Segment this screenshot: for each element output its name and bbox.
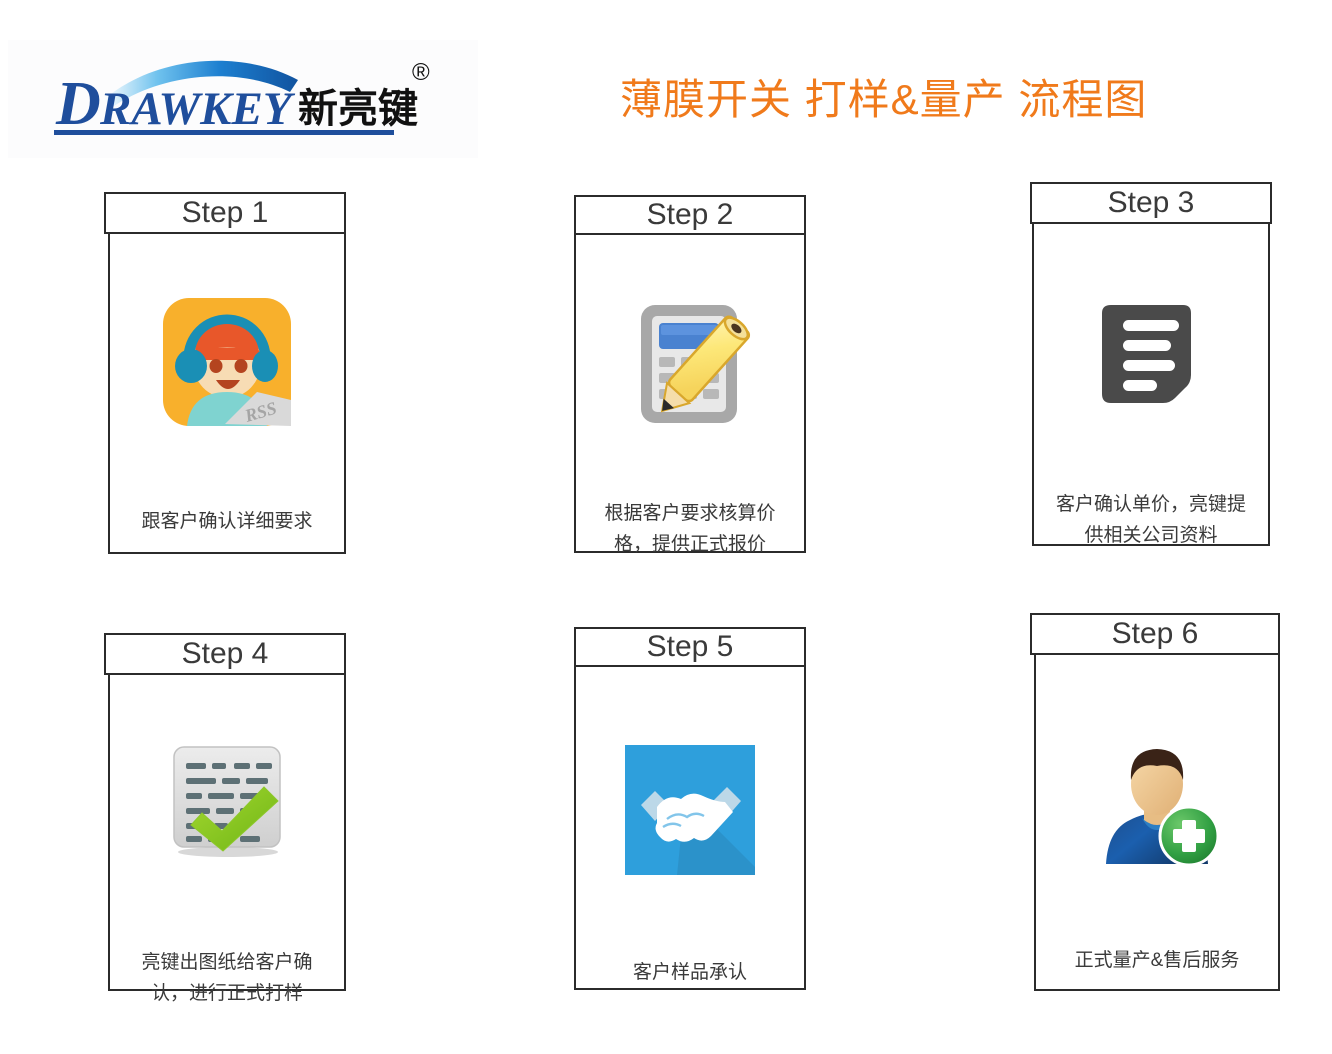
- svg-text:®: ®: [412, 59, 430, 86]
- step-4-header: Step 4: [104, 633, 346, 675]
- customer-support-agent-icon: RSS: [161, 296, 293, 433]
- svg-text:D: D: [55, 70, 100, 138]
- drawkey-logo-graphic: D RAWKEY 新亮键 ®: [8, 40, 478, 158]
- step-2-caption: 根据客户要求核算价格，提供正式报价: [576, 498, 804, 560]
- step-6-label: Step 6: [1112, 619, 1199, 649]
- step-card-3: Step 3 客户确认单价，亮键提供相关公司资料: [1030, 182, 1272, 546]
- step-card-4: Step 4: [104, 633, 346, 991]
- step-4-body: 亮键出图纸给客户确认，进行正式打样: [108, 675, 346, 991]
- step-6-caption: 正式量产&售后服务: [1036, 945, 1278, 976]
- user-add-icon: [1094, 740, 1220, 871]
- step-card-6: Step 6: [1030, 613, 1280, 991]
- step-1-caption: 跟客户确认详细要求: [110, 506, 344, 537]
- step-1-body: RSS 跟客户确认详细要求: [108, 234, 346, 554]
- company-logo: D RAWKEY 新亮键 ®: [8, 40, 478, 158]
- step-3-caption: 客户确认单价，亮键提供相关公司资料: [1034, 489, 1268, 551]
- step-2-body: 根据客户要求核算价格，提供正式报价: [574, 235, 806, 553]
- step-card-2: Step 2: [574, 195, 806, 553]
- step-card-1: Step 1: [104, 192, 346, 554]
- step-1-header: Step 1: [104, 192, 346, 234]
- step-6-header: Step 6: [1030, 613, 1280, 655]
- svg-text:新亮键: 新亮键: [298, 86, 418, 132]
- step-5-body: 客户样品承认: [574, 667, 806, 990]
- document-lines-icon: [1102, 296, 1200, 413]
- svg-text:RAWKEY: RAWKEY: [99, 83, 296, 135]
- step-2-header: Step 2: [574, 195, 806, 235]
- step-6-body: 正式量产&售后服务: [1034, 655, 1280, 991]
- handshake-icon: [625, 745, 755, 880]
- document-checkmark-icon: [164, 741, 290, 866]
- step-1-label: Step 1: [182, 198, 269, 228]
- page-header: D RAWKEY 新亮键 ® 薄膜开关 打样&量产 流程图: [0, 0, 1332, 170]
- step-3-body: 客户确认单价，亮键提供相关公司资料: [1032, 224, 1270, 546]
- step-3-label: Step 3: [1108, 188, 1195, 218]
- step-4-label: Step 4: [182, 639, 269, 669]
- step-3-header: Step 3: [1030, 182, 1272, 224]
- step-5-caption: 客户样品承认: [576, 957, 804, 988]
- step-5-header: Step 5: [574, 627, 806, 667]
- page-title: 薄膜开关 打样&量产 流程图: [620, 66, 1220, 127]
- step-5-label: Step 5: [647, 632, 734, 662]
- step-2-label: Step 2: [647, 200, 734, 230]
- step-4-caption: 亮键出图纸给客户确认，进行正式打样: [110, 947, 344, 1009]
- calculator-pencil-icon: [625, 297, 755, 434]
- step-card-5: Step 5 客户样品承认: [574, 627, 806, 990]
